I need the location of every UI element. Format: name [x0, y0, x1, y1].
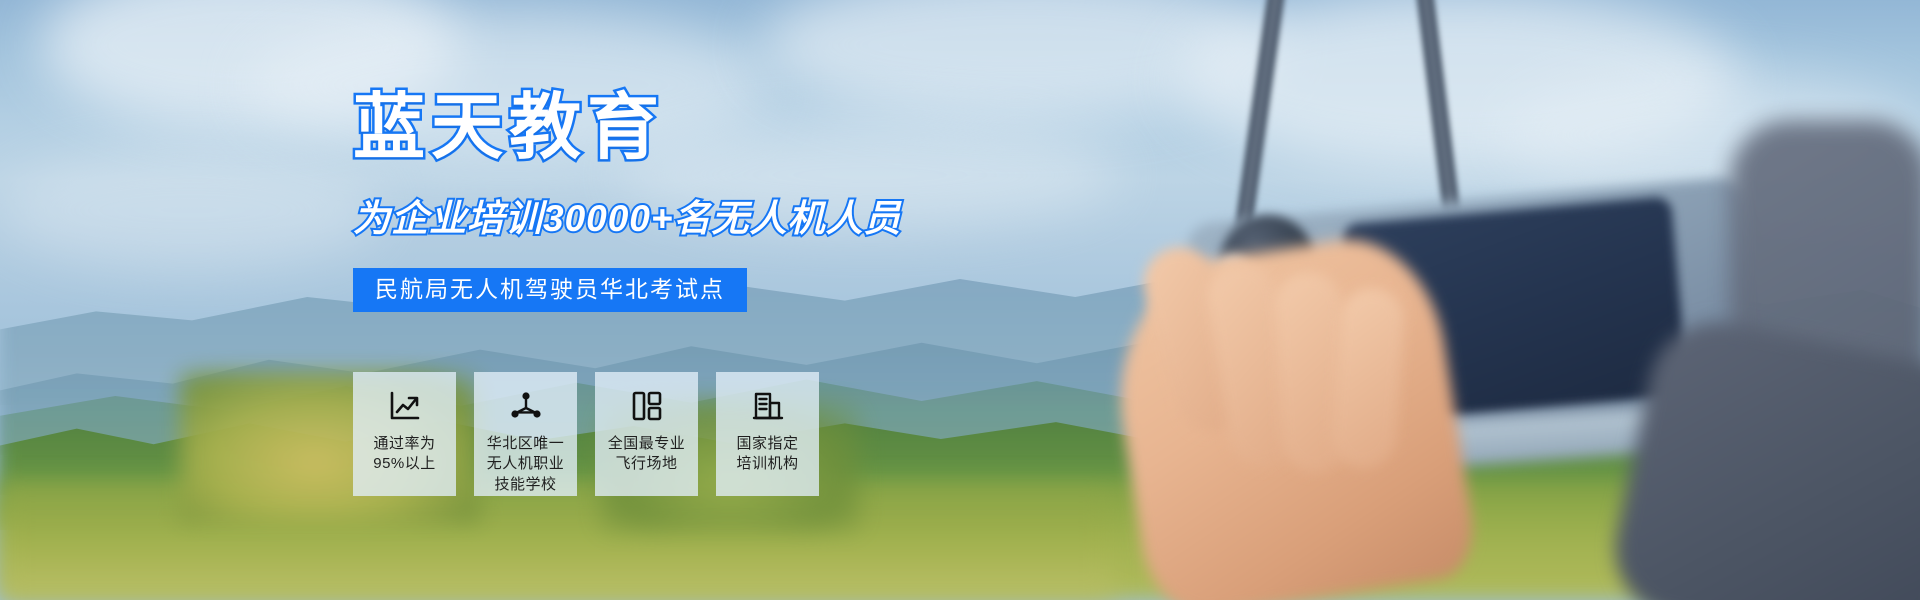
feature-card-text: 国家指定 培训机构	[736, 434, 798, 475]
feature-card-only-school[interactable]: 华北区唯一 无人机职业 技能学校	[474, 372, 577, 496]
growth-chart-icon	[385, 386, 425, 426]
building-icon	[748, 386, 788, 426]
feature-card-pass-rate[interactable]: 通过率为 95%以上	[353, 372, 456, 496]
hero-banner: 蓝天教育 为企业培训30000+名无人机人员 民航局无人机驾驶员华北考试点 通过…	[0, 0, 1920, 600]
feature-card-text: 华北区唯一 无人机职业 技能学校	[487, 434, 565, 495]
feature-card-text: 通过率为 95%以上	[373, 434, 436, 475]
feature-card-line: 全国最专业	[608, 434, 686, 454]
banner-subtitle: 为企业培训30000+名无人机人员	[353, 200, 902, 237]
feature-card-line: 通过率为	[373, 434, 436, 454]
feature-card-line: 无人机职业	[487, 454, 565, 474]
feature-card-text: 全国最专业 飞行场地	[608, 434, 686, 475]
layout-grid-icon	[627, 386, 667, 426]
banner-title: 蓝天教育	[353, 92, 665, 164]
certification-badge: 民航局无人机驾驶员华北考试点	[353, 268, 747, 312]
feature-card-line: 华北区唯一	[487, 434, 565, 454]
feature-card-line: 技能学校	[487, 475, 565, 495]
feature-card-flight-field[interactable]: 全国最专业 飞行场地	[595, 372, 698, 496]
feature-card-line: 95%以上	[373, 454, 436, 474]
feature-card-national-institution[interactable]: 国家指定 培训机构	[716, 372, 819, 496]
feature-card-list: 通过率为 95%以上 华北区唯一	[353, 372, 819, 496]
feature-card-line: 国家指定	[736, 434, 798, 454]
feature-card-line: 飞行场地	[608, 454, 686, 474]
feature-card-line: 培训机构	[736, 454, 798, 474]
network-nodes-icon	[506, 386, 546, 426]
banner-content: 蓝天教育 为企业培训30000+名无人机人员 民航局无人机驾驶员华北考试点 通过…	[0, 0, 1920, 600]
